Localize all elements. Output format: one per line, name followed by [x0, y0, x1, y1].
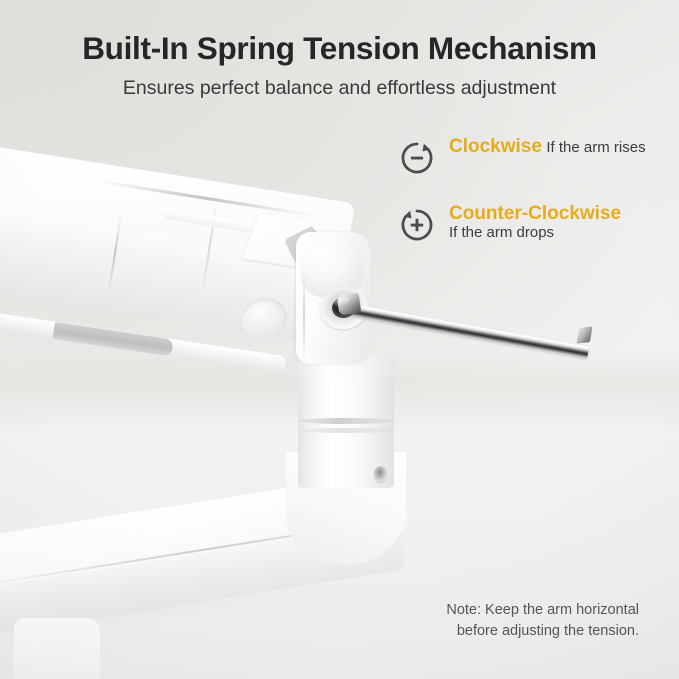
callout-item-clockwise: Clockwise If the arm rises — [398, 136, 668, 177]
base-arm-leg — [14, 618, 100, 679]
callout-text-clockwise: Clockwise If the arm rises — [449, 136, 646, 158]
page-title: Built-In Spring Tension Mechanism — [0, 30, 679, 67]
product-photo-monitor-arm — [0, 0, 679, 679]
infographic-canvas: Built-In Spring Tension Mechanism Ensure… — [0, 0, 679, 679]
callout-heading: Counter-Clockwise — [449, 203, 621, 224]
post-ring-upper — [298, 418, 394, 424]
clockwise-rotate-minus-icon — [398, 139, 436, 177]
pivot-knuckle-seam — [303, 270, 305, 362]
callout-text-counter-clockwise: Counter-Clockwise If the arm drops — [449, 203, 668, 243]
counter-clockwise-rotate-plus-icon — [398, 206, 436, 244]
page-subtitle: Ensures perfect balance and effortless a… — [0, 77, 679, 100]
post-ring-lower — [298, 428, 394, 433]
callout-heading: Clockwise — [449, 136, 542, 157]
post-screw-icon — [374, 466, 387, 482]
callout-description: If the arm rises — [546, 139, 645, 156]
callout-description: If the arm drops — [449, 224, 554, 241]
upper-arm-under-shadow — [52, 322, 173, 357]
note-block: Note: Keep the arm horizontal before adj… — [379, 600, 639, 642]
note-line-2: before adjusting the tension. — [379, 621, 639, 642]
note-line-1: Note: Keep the arm horizontal — [379, 600, 639, 621]
callout-list: Clockwise If the arm rises Counter-Clock… — [398, 136, 668, 270]
hex-key-shaft — [345, 303, 589, 358]
hex-key-tip — [576, 326, 592, 343]
callout-item-counter-clockwise: Counter-Clockwise If the arm drops — [398, 203, 668, 244]
